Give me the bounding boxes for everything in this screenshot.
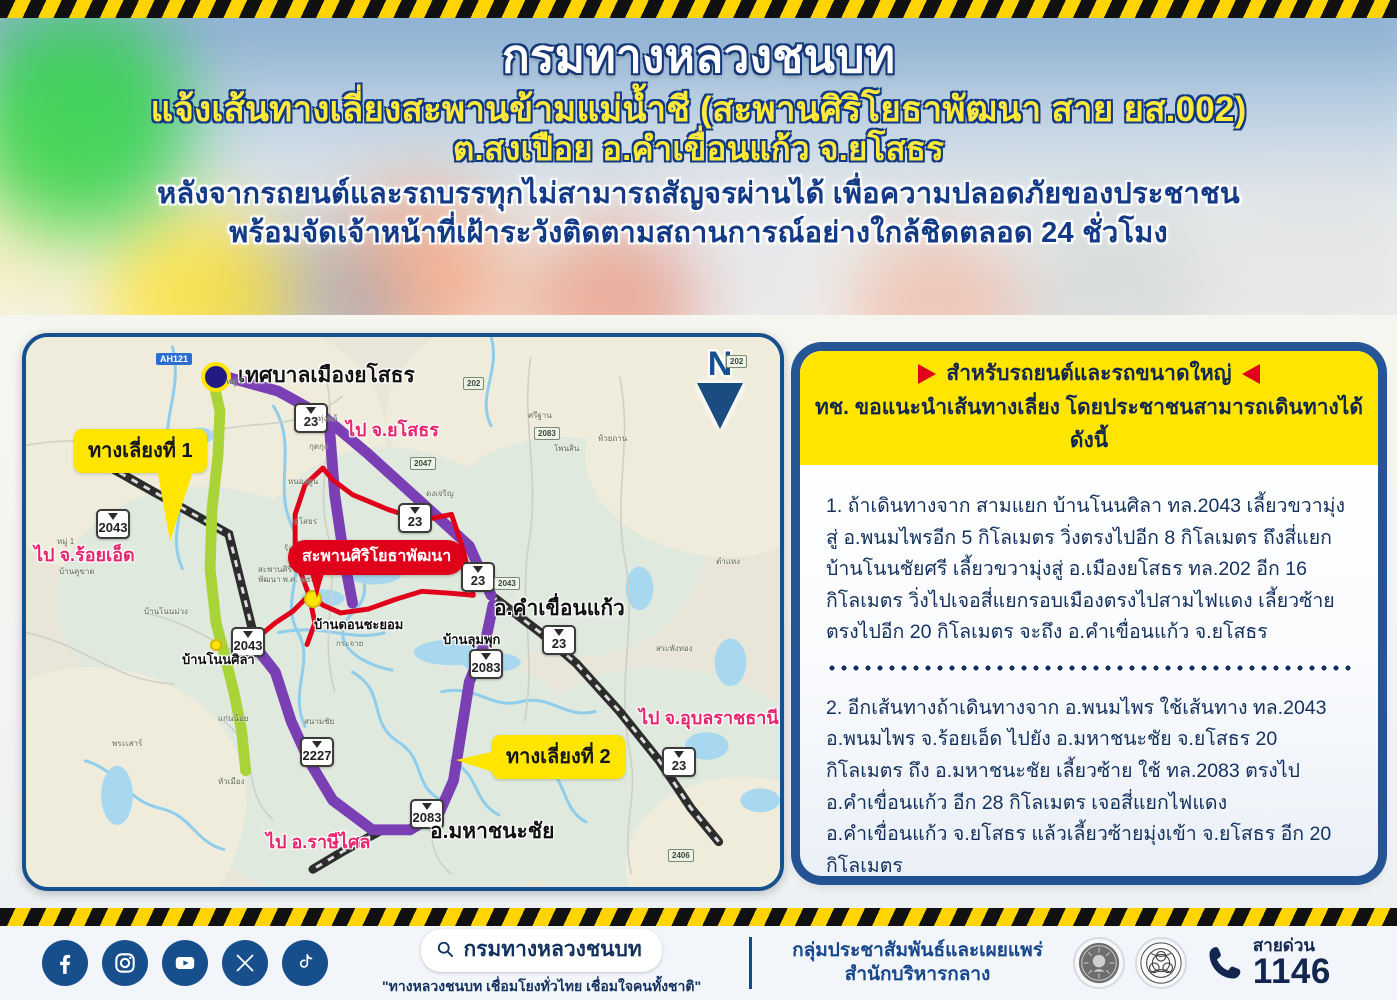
route-shield-23: 23: [398, 503, 432, 533]
micro-label: ตำแหง: [716, 555, 740, 568]
panel-headline-row: สำหรับรถยนต์และรถขนาดใหญ่: [810, 357, 1368, 390]
hazard-stripe-top: [0, 0, 1397, 18]
facebook-icon[interactable]: [42, 940, 88, 986]
route-shield-23: 23: [542, 625, 576, 655]
micro-label: สระพังทอง: [656, 642, 693, 655]
minor-shield-202: 202: [463, 377, 484, 390]
subheadline-line-2: พร้อมจัดเจ้าหน้าที่เฝ้าระวังติดตามสถานกา…: [0, 218, 1397, 249]
government-seal-icon: [1073, 937, 1125, 989]
detour-map[interactable]: N 23 23 23 23 23 2043 2043 2227 2083 208…: [22, 333, 784, 891]
search-pill[interactable]: กรมทางหลวงชนบท: [421, 929, 661, 972]
headline-line-1: แจ้งเส้นทางเลี่ยงสะพานข้ามแม่น้ำชี (สะพา…: [0, 91, 1397, 128]
footer-bar: กรมทางหลวงชนบท "ทางหลวงชนบท เชื่อมโยงทั่…: [0, 926, 1397, 1000]
tiktok-icon[interactable]: [282, 940, 328, 986]
place-label-maha-chana-chai: อ.มหาชนะชัย: [430, 815, 554, 848]
content-area: N 23 23 23 23 23 2043 2043 2227 2083 208…: [0, 315, 1397, 908]
hotline-text: สายด่วน 1146: [1253, 937, 1331, 989]
department-line-2: สำนักบริหารกลาง: [792, 963, 1043, 987]
micro-label: กระจาย: [336, 637, 363, 650]
callout-detour-1-tail: [156, 463, 196, 541]
micro-label: สนามชัย: [304, 715, 334, 728]
route-shield-23: 23: [662, 747, 696, 777]
hotline-number: 1146: [1253, 954, 1331, 989]
route-shield-2043: 2043: [96, 509, 130, 539]
micro-label: บ้านคูขาด: [59, 565, 95, 578]
direction-label-to-yasothon: ไป จ.ยโสธร: [346, 415, 439, 444]
direction-label-to-ubon: ไป จ.อุบลราชธานี: [639, 703, 779, 732]
infographic-page: กรมทางหลวงชนบท แจ้งเส้นทางเลี่ยงสะพานข้า…: [0, 0, 1397, 1000]
instagram-icon[interactable]: [102, 940, 148, 986]
micro-label: บ้านโนนม่วง: [144, 605, 188, 618]
social-links: [0, 940, 328, 986]
micro-label: หัวเมือง: [218, 775, 244, 788]
micro-label: กุดกุง: [309, 440, 328, 453]
micro-label: หมู่ 1: [57, 535, 74, 548]
headline-line-2: ต.สงเปือย อ.คำเขื่อนแก้ว จ.ยโสธร: [0, 132, 1397, 167]
x-twitter-icon[interactable]: [222, 940, 268, 986]
official-seals: [1073, 937, 1187, 989]
department-name: กลุ่มประชาสัมพันธ์และเผยแพร่ สำนักบริหาร…: [792, 939, 1043, 987]
triangle-right-icon: [918, 364, 936, 384]
panel-headline-top: สำหรับรถยนต์และรถขนาดใหญ่: [946, 357, 1231, 390]
search-text: กรมทางหลวงชนบท: [463, 933, 641, 966]
place-label-kham-khuean-kaeo: อ.คำเขื่อนแก้ว: [494, 592, 625, 625]
search-icon: [435, 939, 455, 959]
micro-label: หนองคูน: [288, 475, 318, 488]
micro-label: ยโสธร: [294, 515, 317, 528]
callout-detour-1-label: ทางเลี่ยงที่ 1: [88, 440, 193, 462]
slogan-text: "ทางหลวงชนบท เชื่อมโยงทั่วไทย เชื่อมใจคน…: [382, 976, 701, 998]
micro-label: แก่นน้อย: [218, 712, 248, 725]
panel-headline-bottom: ทช. ขอแนะนำเส้นทางเลี่ยง โดยประชาชนสามาร…: [810, 391, 1368, 457]
route-shield-2083: 2083: [469, 649, 503, 679]
dotted-divider: [826, 665, 1352, 671]
micro-label: พระเสาร์: [112, 737, 142, 750]
department-line-1: กลุ่มประชาสัมพันธ์และเผยแพร่: [792, 939, 1043, 963]
minor-shield-202: 202: [726, 355, 747, 368]
route-shield-23: 23: [461, 562, 495, 592]
place-label-ban-non-sila: บ้านโนนศิลา: [182, 649, 255, 670]
panel-header: สำหรับรถยนต์และรถขนาดใหญ่ ทช. ขอแนะนำเส้…: [800, 351, 1378, 465]
minor-shield-2083: 2083: [534, 427, 560, 440]
triangle-left-icon: [1242, 364, 1260, 384]
route-1-text: 1. ถ้าเดินทางจาก สามแยก บ้านโนนศิลา ทล.2…: [800, 491, 1378, 649]
callout-detour-2: ทางเลี่ยงที่ 2: [492, 735, 625, 779]
place-label-municipality: เทศบาลเมืองยโสธร: [238, 359, 415, 392]
youtube-icon[interactable]: [162, 940, 208, 986]
micro-label: ศรีฐาน: [528, 409, 552, 422]
subheadline-line-1: หลังจากรถยนต์และรถบรรทุกไม่สามารถสัญจรผ่…: [0, 179, 1397, 210]
hazard-stripe-bottom: [0, 908, 1397, 926]
compass-arrow-icon: [697, 383, 743, 429]
callout-bridge-tail: [308, 566, 326, 598]
micro-label: หมู่ 7: [226, 375, 243, 388]
hotline-block: สายด่วน 1146: [1205, 937, 1331, 989]
route-shield-2227: 2227: [300, 737, 334, 767]
callout-detour-2-label: ทางเลี่ยงที่ 2: [506, 746, 611, 768]
minor-shield-2047: 2047: [410, 457, 436, 470]
minor-shield-2043: 2043: [494, 577, 520, 590]
place-label-ban-don-cha-yom: บ้านดอนชะยอม: [314, 614, 403, 635]
minor-shield-ah121: AH121: [156, 353, 192, 365]
map-canvas: N 23 23 23 23 23 2043 2043 2227 2083 208…: [26, 337, 780, 887]
detour-instructions-panel: สำหรับรถยนต์และรถขนาดใหญ่ ทช. ขอแนะนำเส้…: [800, 351, 1378, 876]
micro-label: ห้วยถาน: [598, 432, 627, 445]
callout-bridge-label: สะพานศิริโยธาพัฒนา: [302, 548, 451, 565]
ministry-seal-icon: [1135, 937, 1187, 989]
phone-icon: [1205, 941, 1245, 985]
micro-label: ดงเจริญ: [426, 487, 454, 500]
callout-detour-2-tail: [456, 751, 496, 773]
footer-divider: [749, 937, 752, 989]
direction-label-to-rasi-salai: ไป อ.ราษีไศล: [266, 827, 370, 856]
header-banner: กรมทางหลวงชนบท แจ้งเส้นทางเลี่ยงสะพานข้า…: [0, 18, 1397, 315]
minor-shield-2406: 2406: [668, 849, 694, 862]
micro-label: ทุ่งแต้: [318, 412, 338, 425]
place-label-ban-lum-phuk: บ้านลุมพุก: [443, 629, 500, 650]
organization-title: กรมทางหลวงชนบท: [0, 32, 1397, 81]
micro-label: โพนสิน: [554, 442, 579, 455]
route-2-text: 2. อีกเส้นทางถ้าเดินทางจาก อ.พนมไพร ใช้เ…: [800, 693, 1378, 876]
search-branding: กรมทางหลวงชนบท "ทางหลวงชนบท เชื่อมโยงทั่…: [382, 929, 701, 998]
